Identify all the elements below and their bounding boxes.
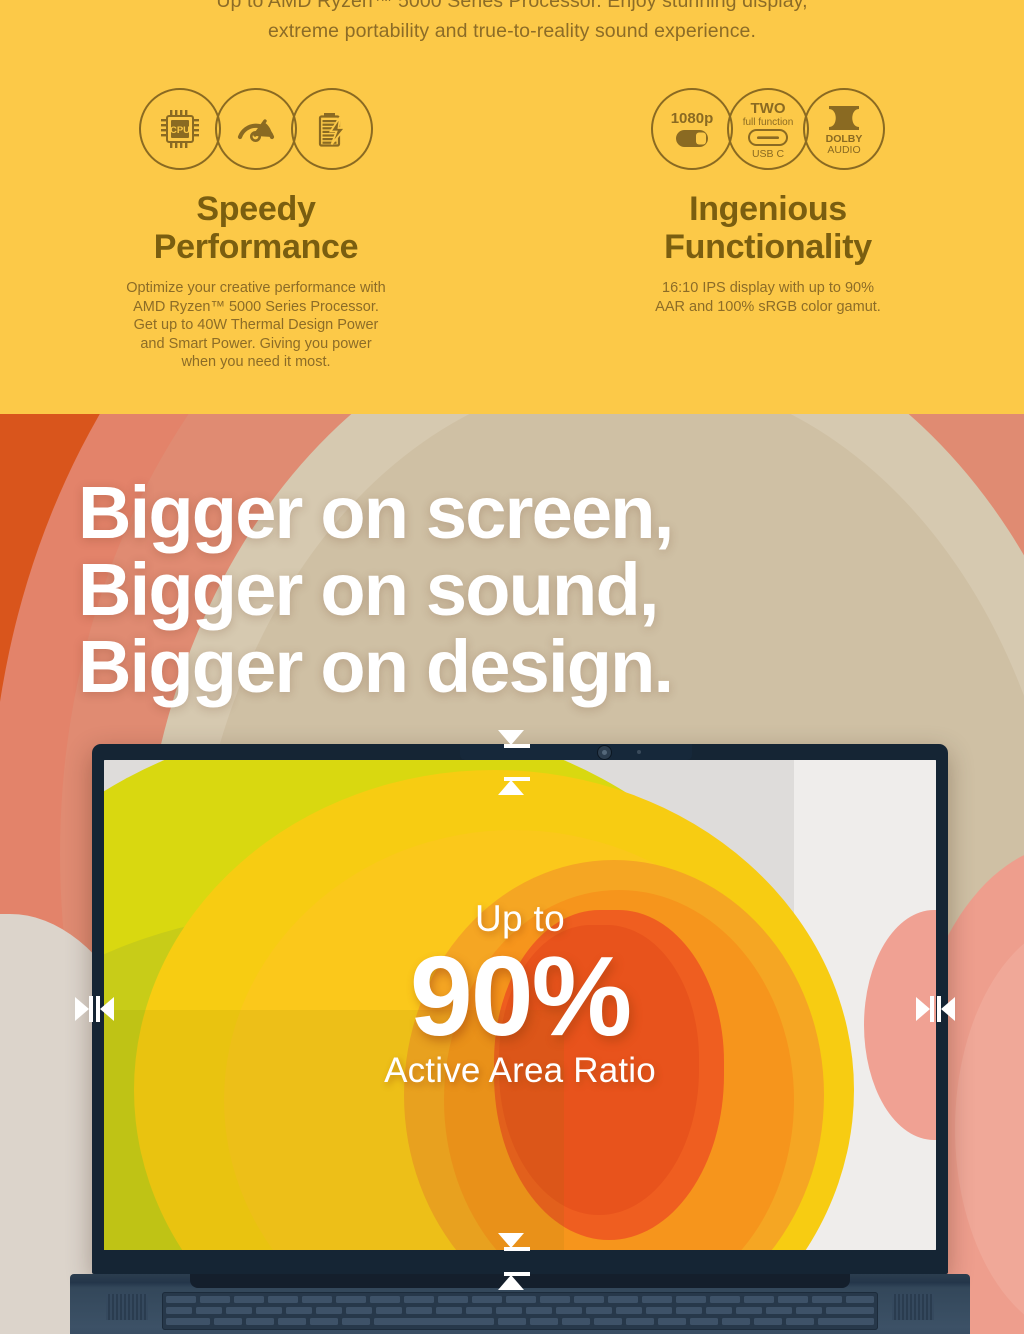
icon-row-functionality: 1080p TWO full function USB C bbox=[512, 88, 1024, 170]
intro-line-1: Up to AMD Ryzen™ 5000 Series Processor. … bbox=[0, 0, 1024, 16]
svg-text:TWO: TWO bbox=[751, 100, 786, 117]
feature-body-speedy-performance: Optimize your creative performance with … bbox=[0, 279, 512, 372]
screen-callout: Up to 90% Active Area Ratio bbox=[104, 898, 936, 1091]
bezel-measure-left-marker bbox=[75, 996, 93, 1022]
feature-body-line: 16:10 IPS display with up to 90% bbox=[512, 279, 1024, 298]
hero-headline-line-2: Bigger on sound, bbox=[78, 551, 672, 628]
webcam-resolution-label: 1080p bbox=[671, 110, 714, 127]
usb-c-icon: TWO full function USB C bbox=[727, 88, 809, 170]
hero-headline-line-1: Bigger on screen, bbox=[78, 474, 672, 551]
dolby-audio-icon: DOLBY AUDIO bbox=[803, 88, 885, 170]
bezel-measure-bottom-marker bbox=[498, 1233, 530, 1251]
feature-body-line: Optimize your creative performance with bbox=[0, 279, 512, 298]
bezel-measure-top-marker-inner bbox=[498, 777, 530, 795]
icon-row-performance: CPU bbox=[0, 88, 512, 170]
measure-bar-bottom bbox=[504, 1247, 530, 1251]
speaker-vent-left bbox=[106, 1294, 148, 1320]
feature-columns: CPU bbox=[0, 88, 1024, 372]
laptop-screen: Up to 90% Active Area Ratio bbox=[104, 760, 936, 1250]
feature-body-ingenious-functionality: 16:10 IPS display with up to 90% AAR and… bbox=[512, 279, 1024, 316]
svg-text:USB C: USB C bbox=[752, 148, 785, 160]
svg-text:AUDIO: AUDIO bbox=[827, 144, 860, 156]
feature-body-line: AMD Ryzen™ 5000 Series Processor. bbox=[0, 298, 512, 317]
feature-body-line: and Smart Power. Giving you power bbox=[0, 335, 512, 354]
svg-text:CPU: CPU bbox=[170, 125, 190, 136]
triangle-up-icon bbox=[498, 780, 524, 795]
bezel-measure-right-marker bbox=[916, 996, 934, 1022]
feature-title-line-1: Ingenious bbox=[689, 190, 847, 228]
feature-title-line-2: Performance bbox=[0, 228, 512, 266]
feature-title-line-2: Functionality bbox=[512, 228, 1024, 266]
measure-bar-left bbox=[89, 996, 93, 1022]
laptop-lid: Up to 90% Active Area Ratio bbox=[92, 744, 948, 1274]
feature-body-line: Get up to 40W Thermal Design Power bbox=[0, 316, 512, 335]
intro-line-2: extreme portability and true-to-reality … bbox=[0, 16, 1024, 46]
product-marketing-page: Up to AMD Ryzen™ 5000 Series Processor. … bbox=[0, 0, 1024, 1334]
bezel-measure-left-marker-inner bbox=[96, 996, 114, 1022]
triangle-down-icon bbox=[498, 1233, 524, 1248]
feature-column-speedy-performance: CPU bbox=[0, 88, 512, 372]
feature-column-ingenious-functionality: 1080p TWO full function USB C bbox=[512, 88, 1024, 372]
triangle-up-icon bbox=[498, 1275, 524, 1290]
triangle-left-icon bbox=[100, 997, 114, 1021]
speaker-vent-right bbox=[892, 1294, 934, 1320]
feature-title-line-1: Speedy bbox=[196, 190, 315, 228]
features-panel: Up to AMD Ryzen™ 5000 Series Processor. … bbox=[0, 0, 1024, 414]
speedometer-icon bbox=[215, 88, 297, 170]
feature-body-line: AAR and 100% sRGB color gamut. bbox=[512, 298, 1024, 317]
screen-value: 90% bbox=[104, 940, 936, 1053]
hero-headline-line-3: Bigger on design. bbox=[78, 628, 672, 705]
screen-caption: Active Area Ratio bbox=[104, 1051, 936, 1091]
measure-bar-right bbox=[930, 996, 934, 1022]
feature-body-line: when you need it most. bbox=[0, 353, 512, 372]
intro-paragraph: Up to AMD Ryzen™ 5000 Series Processor. … bbox=[0, 0, 1024, 46]
hero-headline: Bigger on screen, Bigger on sound, Bigge… bbox=[78, 474, 672, 705]
triangle-right-icon bbox=[916, 997, 930, 1021]
triangle-down-icon bbox=[498, 730, 524, 745]
feature-title-ingenious-functionality: Ingenious Functionality bbox=[512, 190, 1024, 266]
svg-text:full function: full function bbox=[743, 117, 794, 128]
measure-bar-top bbox=[504, 744, 530, 748]
webcam-1080p-icon: 1080p bbox=[651, 88, 733, 170]
webcam-lens-icon bbox=[597, 745, 612, 760]
triangle-right-icon bbox=[75, 997, 89, 1021]
triangle-left-icon bbox=[941, 997, 955, 1021]
cpu-chip-icon: CPU bbox=[139, 88, 221, 170]
webcam-indicator-icon bbox=[637, 750, 641, 754]
bezel-measure-top-marker bbox=[498, 730, 530, 748]
feature-title-speedy-performance: Speedy Performance bbox=[0, 190, 512, 266]
bezel-measure-right-marker-inner bbox=[937, 996, 955, 1022]
laptop-keyboard bbox=[162, 1292, 878, 1330]
battery-bolt-icon bbox=[291, 88, 373, 170]
bezel-measure-bottom-marker-inner bbox=[498, 1272, 530, 1290]
